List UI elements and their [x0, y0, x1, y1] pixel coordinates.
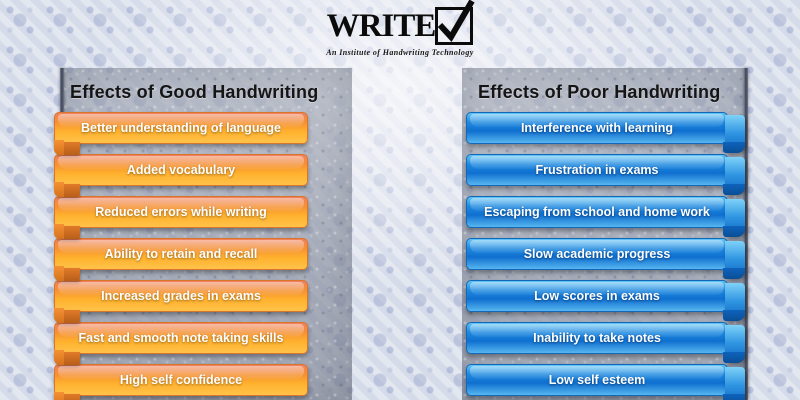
poor-item-label: Escaping from school and home work	[476, 205, 718, 219]
ribbon-fold-icon	[725, 367, 745, 400]
good-item-label: High self confidence	[112, 373, 250, 387]
good-item-ribbon: High self confidence	[54, 364, 308, 396]
ribbon-fold-icon	[54, 142, 80, 155]
poor-item-ribbon: Low scores in exams	[466, 280, 728, 312]
poor-item-label: Low scores in exams	[526, 289, 668, 303]
good-item-ribbon: Better understanding of language	[54, 112, 308, 144]
ribbon-fold-icon	[54, 184, 80, 197]
ribbon-fold-icon	[725, 241, 745, 279]
logo-wordmark: WRITE	[327, 10, 436, 43]
poster-canvas: WRITE An Institute of Handwriting Techno…	[0, 0, 800, 400]
ribbon-fold-icon	[54, 268, 80, 281]
good-item-ribbon: Added vocabulary	[54, 154, 308, 186]
ribbon-fold-icon	[725, 325, 745, 363]
poor-item-ribbon: Frustration in exams	[466, 154, 728, 186]
poor-item-ribbon: Inability to take notes	[466, 322, 728, 354]
good-item-ribbon: Reduced errors while writing	[54, 196, 308, 228]
logo-wordmark-group: WRITE	[327, 7, 474, 45]
good-handwriting-title: Effects of Good Handwriting	[70, 82, 318, 103]
poor-item-label: Slow academic progress	[516, 247, 679, 261]
ribbon-fold-icon	[54, 352, 80, 365]
poor-item-label: Inability to take notes	[525, 331, 669, 345]
check-mark-icon	[435, 7, 473, 45]
poor-item-ribbon: Escaping from school and home work	[466, 196, 728, 228]
ribbon-fold-icon	[725, 283, 745, 321]
good-item-label: Added vocabulary	[119, 163, 243, 177]
good-item-label: Fast and smooth note taking skills	[71, 331, 292, 345]
ribbon-fold-icon	[725, 157, 745, 195]
poor-handwriting-title: Effects of Poor Handwriting	[478, 82, 720, 103]
poor-item-label: Interference with learning	[513, 121, 681, 135]
poor-item-label: Low self esteem	[541, 373, 654, 387]
good-item-ribbon: Fast and smooth note taking skills	[54, 322, 308, 354]
poor-item-ribbon: Slow academic progress	[466, 238, 728, 270]
ribbon-fold-icon	[54, 226, 80, 239]
ribbon-fold-icon	[725, 199, 745, 237]
ribbon-fold-icon	[54, 394, 80, 400]
poor-item-ribbon: Interference with learning	[466, 112, 728, 144]
logo-tagline: An Institute of Handwriting Technology	[326, 48, 473, 57]
ribbon-fold-icon	[725, 115, 745, 153]
good-item-label: Better understanding of language	[73, 121, 289, 135]
brand-logo: WRITE An Institute of Handwriting Techno…	[0, 4, 800, 60]
poor-item-ribbon: Low self esteem	[466, 364, 728, 396]
good-item-label: Ability to retain and recall	[97, 247, 266, 261]
ribbon-fold-icon	[54, 310, 80, 323]
good-item-ribbon: Increased grades in exams	[54, 280, 308, 312]
good-item-label: Reduced errors while writing	[87, 205, 275, 219]
good-item-label: Increased grades in exams	[93, 289, 269, 303]
good-item-ribbon: Ability to retain and recall	[54, 238, 308, 270]
poor-item-label: Frustration in exams	[528, 163, 667, 177]
